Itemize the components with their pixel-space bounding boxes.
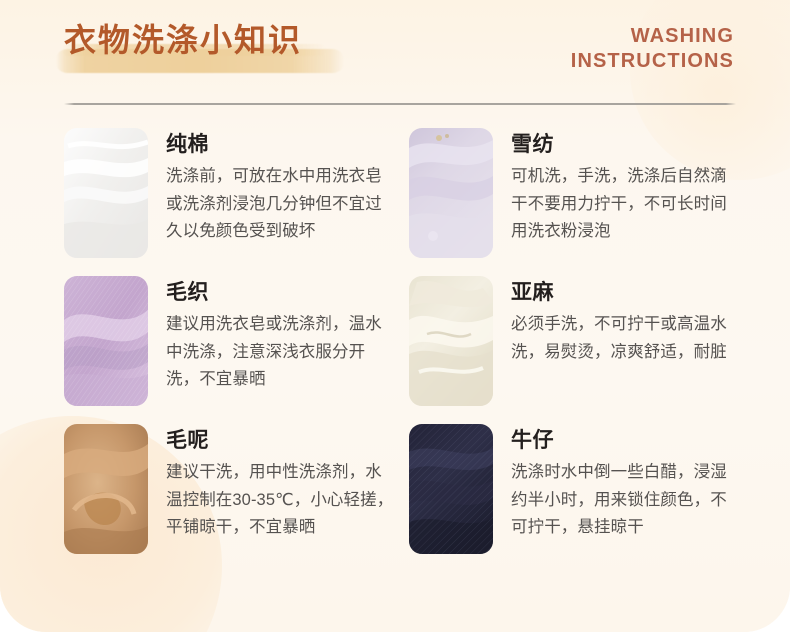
fabric-card-linen: 亚麻 必须手洗，不可拧干或高温水洗，易熨烫，凉爽舒适，耐脏 — [409, 276, 754, 410]
page-title-english: WASHING INSTRUCTIONS — [571, 24, 734, 74]
page-title: 衣物洗涤小知识 — [64, 18, 302, 62]
fabric-title: 雪纺 — [511, 130, 743, 160]
fabric-care-grid: 纯棉 洗涤前，可放在水中用洗衣皂或洗涤剂浸泡几分钟但不宜过久以免颜色受到破坏 — [0, 128, 790, 558]
fabric-swatch-woolen-icon — [64, 424, 148, 554]
fabric-title: 纯棉 — [166, 130, 398, 160]
fabric-title: 牛仔 — [511, 426, 743, 456]
fabric-card-body: 毛呢 建议干洗，用中性洗涤剂，水温控制在30-35℃，小心轻搓，平铺晾干，不宜暴… — [166, 424, 398, 542]
fabric-swatch-cotton-icon — [64, 128, 148, 258]
fabric-card-cotton: 纯棉 洗涤前，可放在水中用洗衣皂或洗涤剂浸泡几分钟但不宜过久以免颜色受到破坏 — [64, 128, 409, 262]
fabric-card-denim: 牛仔 洗涤时水中倒一些白醋，浸湿约半小时，用来锁住颜色，不可拧干，悬挂晾干 — [409, 424, 754, 558]
fabric-card-body: 牛仔 洗涤时水中倒一些白醋，浸湿约半小时，用来锁住颜色，不可拧干，悬挂晾干 — [511, 424, 743, 542]
fabric-card-body: 纯棉 洗涤前，可放在水中用洗衣皂或洗涤剂浸泡几分钟但不宜过久以免颜色受到破坏 — [166, 128, 398, 246]
fabric-description: 建议干洗，用中性洗涤剂，水温控制在30-35℃，小心轻搓，平铺晾干，不宜暴晒 — [166, 459, 398, 542]
fabric-description: 洗涤前，可放在水中用洗衣皂或洗涤剂浸泡几分钟但不宜过久以免颜色受到破坏 — [166, 163, 398, 246]
fabric-swatch-linen-icon — [409, 276, 493, 406]
fabric-card-chiffon: 雪纺 可机洗，手洗，洗涤后自然滴干不要用力拧干，不可长时间用洗衣粉浸泡 — [409, 128, 754, 262]
fabric-card-body: 亚麻 必须手洗，不可拧干或高温水洗，易熨烫，凉爽舒适，耐脏 — [511, 276, 743, 366]
fabric-description: 必须手洗，不可拧干或高温水洗，易熨烫，凉爽舒适，耐脏 — [511, 311, 743, 366]
fabric-swatch-wool-knit-icon — [64, 276, 148, 406]
fabric-swatch-denim-icon — [409, 424, 493, 554]
fabric-swatch-chiffon-icon — [409, 128, 493, 258]
fabric-title: 亚麻 — [511, 278, 743, 308]
fabric-title: 毛呢 — [166, 426, 398, 456]
header-divider — [64, 103, 736, 105]
fabric-description: 洗涤时水中倒一些白醋，浸湿约半小时，用来锁住颜色，不可拧干，悬挂晾干 — [511, 459, 743, 542]
fabric-description: 建议用洗衣皂或洗涤剂，温水中洗涤，注意深浅衣服分开洗，不宜暴晒 — [166, 311, 398, 394]
fabric-card-body: 毛织 建议用洗衣皂或洗涤剂，温水中洗涤，注意深浅衣服分开洗，不宜暴晒 — [166, 276, 398, 394]
page-title-english-line2: INSTRUCTIONS — [571, 49, 734, 74]
header: 衣物洗涤小知识 WASHING INSTRUCTIONS — [0, 0, 790, 108]
page-title-english-line1: WASHING — [571, 24, 734, 49]
page-title-group: 衣物洗涤小知识 — [64, 18, 302, 62]
fabric-card-woolen: 毛呢 建议干洗，用中性洗涤剂，水温控制在30-35℃，小心轻搓，平铺晾干，不宜暴… — [64, 424, 409, 558]
fabric-card-body: 雪纺 可机洗，手洗，洗涤后自然滴干不要用力拧干，不可长时间用洗衣粉浸泡 — [511, 128, 743, 246]
fabric-card-wool-knit: 毛织 建议用洗衣皂或洗涤剂，温水中洗涤，注意深浅衣服分开洗，不宜暴晒 — [64, 276, 409, 410]
fabric-title: 毛织 — [166, 278, 398, 308]
washing-instructions-infographic: 衣物洗涤小知识 WASHING INSTRUCTIONS — [0, 0, 790, 632]
fabric-description: 可机洗，手洗，洗涤后自然滴干不要用力拧干，不可长时间用洗衣粉浸泡 — [511, 163, 743, 246]
